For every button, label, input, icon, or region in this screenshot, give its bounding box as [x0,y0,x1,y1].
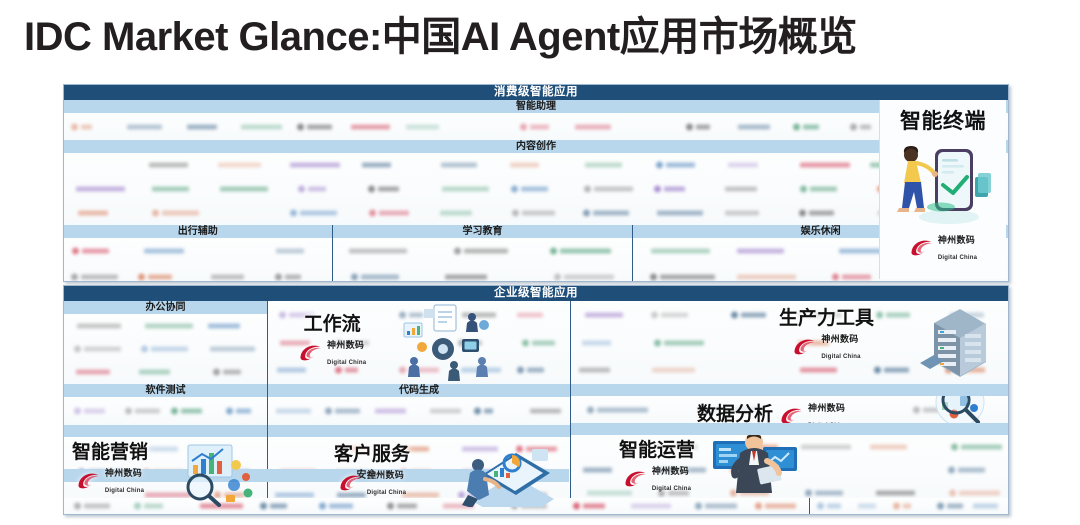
vendor-logo [725,208,758,219]
vendor-logo [651,309,690,320]
slide-canvas: IDC Market Glance:中国AI Agent应用市场概览 消费级智能… [0,0,1080,525]
vendor-logo [800,365,838,376]
vendor-logo [631,502,671,511]
digital-china-logo: 神州数码 Digital China [76,464,144,496]
band-spacer-right-1 [571,384,1008,396]
brand-name-en: Digital China [652,486,691,492]
vendor-logo [141,344,189,355]
digital-china-mark-icon [779,405,805,423]
digital-china-logo: 神州数码 Digital China [909,231,977,263]
vendor-logo [458,337,484,348]
woman-pointing-at-phone-icon [883,133,1003,229]
digital-china-logo: 神州数码 Digital China [779,399,847,423]
vendor-logo [430,406,461,417]
brand-name-cn: 神州数码 [327,340,364,350]
digital-china-mark-icon [909,237,935,257]
vendor-logo [950,309,984,320]
vendor-logo [727,441,780,452]
vendor-logo [943,337,986,348]
vendor-logo [585,160,623,171]
callout-smart-operations: 智能运营 神州数码 Digital China [619,441,695,494]
vendor-logo [369,208,411,219]
band-content-creation: 内容创作 [64,140,1008,153]
vendor-logo [585,309,623,320]
vendor-logo [74,406,108,417]
vendor-logo [582,337,611,348]
vendor-logo [149,160,188,171]
vendor-logo [512,208,557,219]
vendor-logo [297,121,334,132]
vendor-logo [516,443,559,454]
vendor-logo [368,184,400,195]
vendor-logo [139,367,170,378]
vendor-logo [375,406,405,417]
vendor-logo [651,246,711,257]
consumer-panel: 消费级智能应用 智能助理 内容创作 出行辅助 学习教育 娱乐休闲 智能终端 [63,84,1009,282]
vendor-logo [850,121,873,132]
vendor-logo [650,272,718,283]
vendor-logo [319,502,354,511]
vendor-logo [510,160,539,171]
vendor-logo [260,502,289,511]
vendor-logo [71,272,120,283]
vendor-logo [187,121,217,132]
vendor-logo [584,184,635,195]
vendor-logo [725,184,757,195]
logo-grid-workflow: 工作流 神州数码 Digital China [268,301,570,384]
vendor-logo [511,502,549,511]
logo-grid-application-generation [810,498,1008,514]
digital-china-logo: 神州数码 Digital China [792,330,860,362]
logo-grid-travel-assistance [64,238,332,282]
vendor-logo [387,502,418,511]
vendor-logo [462,443,498,454]
vendor-logo [800,184,840,195]
vendor-logo [152,208,201,219]
vendor-logo [76,367,110,378]
vendor-logo [77,320,121,331]
vendor-logo [832,272,873,283]
callout-productivity-tools: 生产力工具 神州数码 Digital China [779,309,874,362]
vendor-logo [145,320,193,331]
brand-name-cn: 神州数码 [367,470,404,480]
logo-grid-learning-education [333,238,633,282]
enterprise-right-column: 生产力工具 神州数码 Digital China [571,301,1008,513]
brand-name-cn: 神州数码 [105,468,142,478]
vendor-logo [945,365,987,376]
vendor-logo [351,272,400,283]
vendor-logo [290,160,340,171]
enterprise-section-header: 企业级智能应用 [64,286,1008,301]
brand-name-cn: 神州数码 [821,334,858,344]
vendor-logo [72,246,111,257]
vendor-logo [913,404,976,415]
vendor-logo [144,246,184,257]
vendor-logo [893,502,909,511]
vendor-logo [517,365,547,376]
callout-label: 客户服务 [334,445,410,465]
vendor-logo [876,309,912,320]
logo-grid-security [64,498,810,514]
vendor-logo [737,246,784,257]
vendor-logo [654,184,686,195]
vendor-logo [276,406,310,417]
vendor-logo [325,406,362,417]
vendor-logo [74,502,112,511]
vendor-logo [583,208,631,219]
vendor-logo [948,465,986,476]
logo-grid-intelligent-assistant [64,113,1008,140]
vendor-logo [799,208,836,219]
vendor-logo [656,160,697,171]
band-office-collaboration: 办公协同 [64,301,267,314]
vendor-logo [200,502,243,511]
vendor-logo [474,406,495,417]
vendor-logo [530,406,562,417]
brand-name-cn: 神州数码 [938,235,975,245]
vendor-logo [454,246,510,257]
vendor-logo [218,160,260,171]
vendor-logo [76,184,125,195]
digital-china-mark-icon [298,342,324,362]
brand-name-cn: 神州数码 [808,403,845,413]
brand-name-en: Digital China [105,488,144,494]
vendor-logo [731,309,768,320]
callout-label: 生产力工具 [779,309,874,329]
vendor-logo [657,208,703,219]
callout-workflow: 工作流 神州数码 Digital China [298,315,366,368]
brand-name-en: Digital China [938,255,977,261]
vendor-logo [522,337,557,348]
callout-label: 工作流 [304,315,361,335]
vendor-logo [406,121,439,132]
vendor-logo [290,208,339,219]
band-travel-assistance: 出行辅助 [64,225,332,238]
logo-grid-data-analysis: 数据分析 神州数码 Digital China [571,396,1008,423]
band-learning-education: 学习教育 [333,225,633,238]
vendor-logo [839,246,882,257]
vendor-logo [755,502,798,511]
vendor-logo [800,160,850,171]
callout-smart-marketing: 智能营销 神州数码 Digital China [72,443,148,496]
digital-china-mark-icon [792,336,818,356]
vendor-logo [78,208,108,219]
digital-china-mark-icon [76,470,102,490]
bottom-logo-strip [64,498,1008,514]
vendor-logo [801,441,851,452]
vendor-logo [399,309,425,320]
vendor-logo [793,121,821,132]
enterprise-panel: 企业级智能应用 办公协同 软件测试 智能营销 [63,285,1009,515]
band-spacer-left [64,425,267,437]
vendor-logo [461,365,502,376]
digital-china-mark-icon [338,472,364,492]
vendor-logo [587,404,650,415]
vendor-logo [870,441,907,452]
callout-label: 智能运营 [619,441,695,461]
vendor-logo [583,465,612,476]
vendor-logo [171,406,204,417]
logo-grid-code-generation [268,397,570,425]
vendor-logo [728,160,758,171]
callout-label: 智能营销 [72,443,148,463]
vendor-logo [951,441,1004,452]
vendor-logo [817,502,842,511]
band-spacer-right-2 [571,423,1008,435]
vendor-logo [874,365,911,376]
vendor-logo [226,406,253,417]
digital-china-logo: 神州数码 Digital China [298,336,366,368]
vendor-logo [730,465,760,476]
band-code-generation: 代码生成 [268,384,570,397]
vendor-logo [349,246,406,257]
vendor-logo [241,121,282,132]
vendor-logo [275,272,302,283]
brand-name-cn: 神州数码 [652,466,689,476]
vendor-logo [298,184,328,195]
vendor-logo [208,320,240,331]
vendor-logo [276,246,304,257]
vendor-logo [443,502,474,511]
logo-grid-smart-operations: 智能运营 神州数码 Digital China [571,435,1008,505]
band-software-testing: 软件测试 [64,384,267,397]
vendor-logo [440,208,471,219]
smart-terminal-label: 智能终端 [900,105,986,135]
band-intelligent-assistant: 智能助理 [64,100,1008,113]
vendor-logo [652,365,694,376]
vendor-logo [138,272,173,283]
vendor-logo [573,502,607,511]
vendor-logo [973,502,998,511]
digital-china-logo: 神州数码 Digital China [338,466,406,498]
vendor-logo [579,365,609,376]
brand-name-en: Digital China [367,490,406,496]
vendor-logo [738,121,769,132]
vendor-logo [554,272,616,283]
callout-customer-service: 客户服务 神州数码 Digital China [334,445,410,498]
vendor-logo [71,121,94,132]
vendor-logo [695,502,738,511]
vendor-logo [134,502,165,511]
vendor-logo [737,272,796,283]
callout-label: 数据分析 [697,405,773,423]
vendor-logo [351,121,390,132]
vendor-logo [686,121,711,132]
vendor-logo [462,309,497,320]
vendor-logo [517,309,543,320]
vendor-logo [937,502,965,511]
logo-grid-software-testing [64,397,267,425]
vendor-logo [125,406,162,417]
vendor-logo [654,337,706,348]
vendor-logo [399,365,441,376]
digital-china-mark-icon [623,468,649,488]
vendor-logo [220,184,268,195]
vendor-logo [442,184,489,195]
vendor-logo [441,160,477,171]
page-title: IDC Market Glance:中国AI Agent应用市场概览 [24,8,1064,66]
vendor-logo [210,344,254,355]
vendor-logo [127,121,163,132]
vendor-logo [152,184,189,195]
vendor-logo [74,344,123,355]
brand-name-en: Digital China [821,354,860,360]
vendor-logo [362,160,391,171]
vendor-logo [520,121,552,132]
vendor-logo [575,121,612,132]
digital-china-logo: 神州数码 Digital China [623,462,691,494]
vendor-logo [445,272,487,283]
band-spacer-middle [268,425,570,437]
logo-grid-content-creation [64,153,1008,225]
callout-data-analysis: 数据分析 神州数码 Digital China [697,398,847,423]
smart-terminal-cell: 智能终端 [879,100,1006,279]
vendor-logo [211,272,244,283]
brand-name-en: Digital China [327,360,366,366]
vendor-logo [550,246,613,257]
logo-grid-productivity-tools: 生产力工具 神州数码 Digital China [571,301,1008,384]
vendor-logo [511,184,550,195]
logo-grid-office-collaboration [64,314,267,384]
consumer-section-header: 消费级智能应用 [64,85,1008,100]
vendor-logo [858,502,876,511]
vendor-logo [213,367,242,378]
